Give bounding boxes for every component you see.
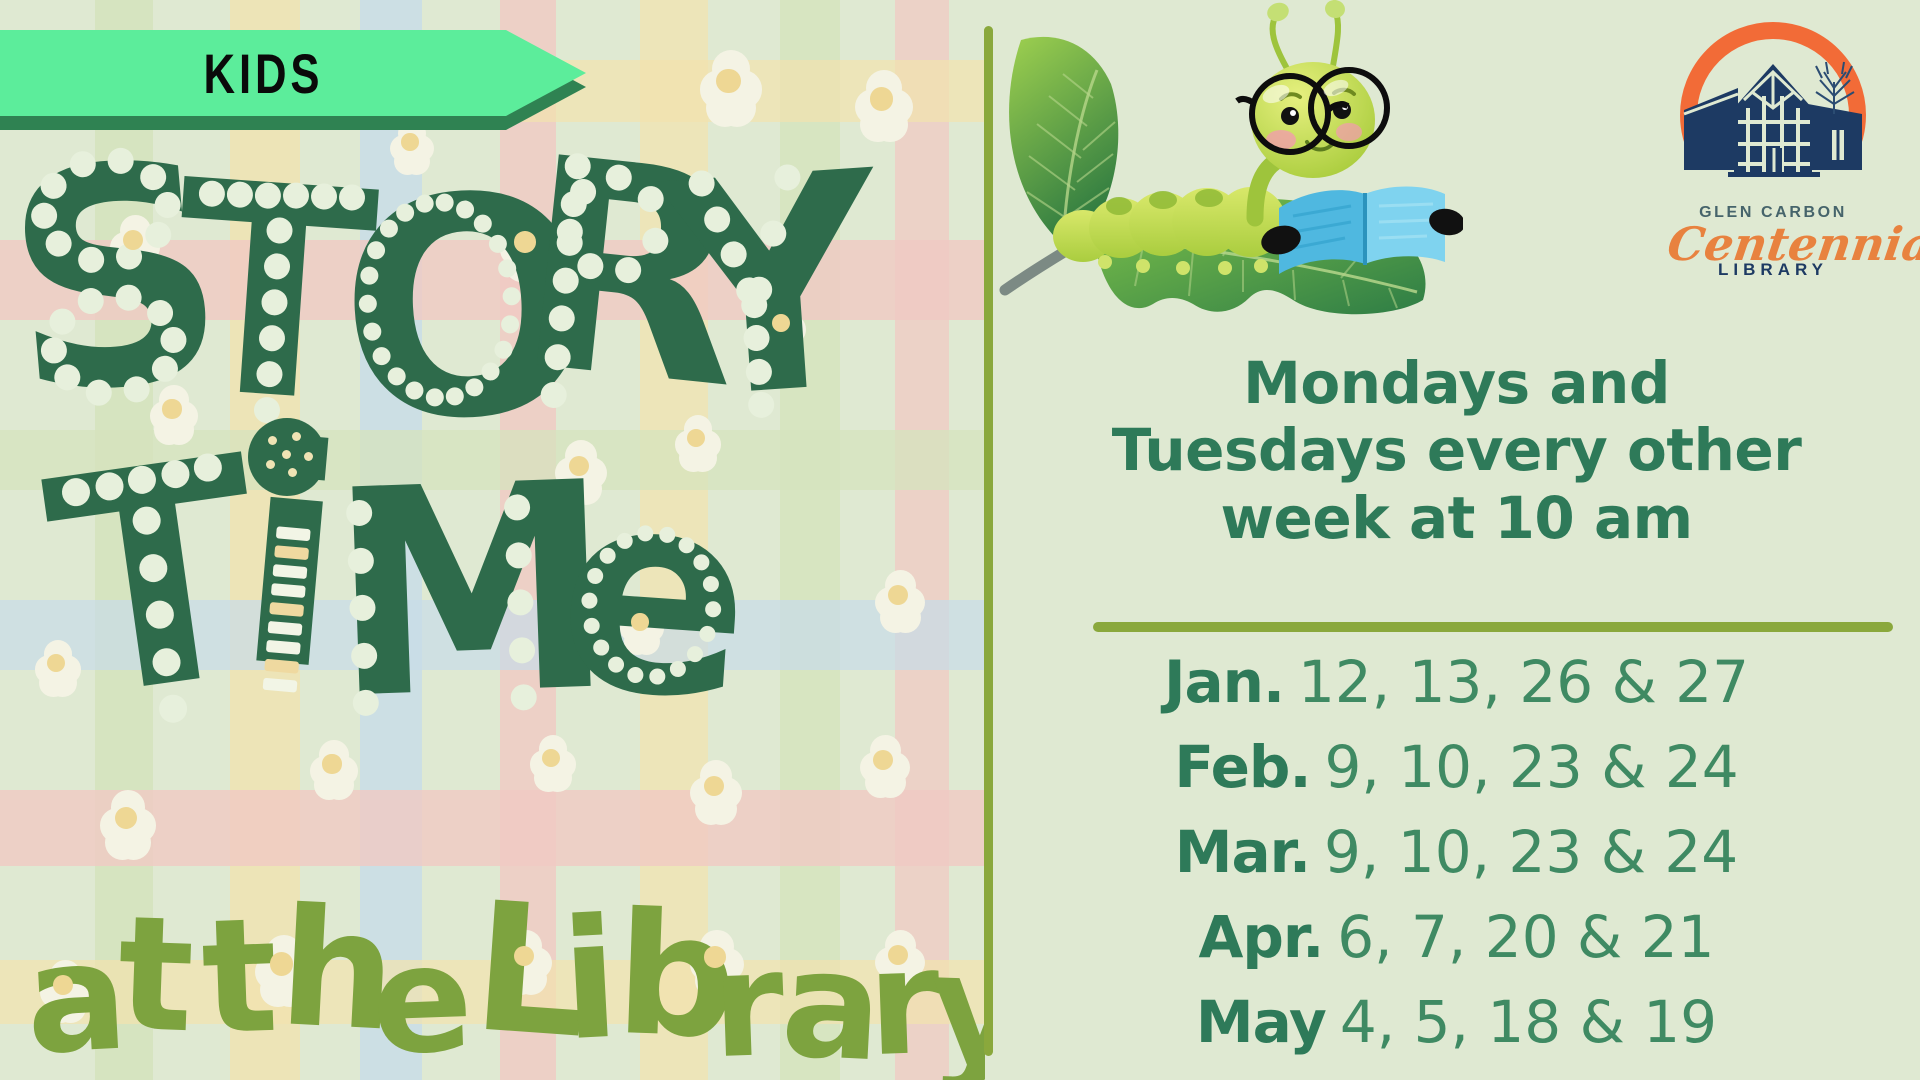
- schedule-days-label: 6, 7, 20 & 21: [1337, 895, 1714, 980]
- title-word-time: TiMe: [0, 400, 985, 740]
- schedule-date-row: Jan.12, 13, 26 & 27: [993, 640, 1920, 725]
- kids-badge: KIDS: [0, 30, 586, 116]
- schedule-headline-line-2: Tuesdays every other: [1015, 417, 1898, 484]
- schedule-month-label: May: [1196, 980, 1326, 1065]
- schedule-headline: Mondays andTuesdays every otherweek at 1…: [993, 350, 1920, 552]
- subtitle-letter-t-1: t: [115, 895, 196, 1056]
- daisy-flower-icon: [860, 735, 910, 785]
- vertical-divider: [984, 26, 993, 1056]
- schedule-month-label: Mar.: [1175, 810, 1310, 895]
- title-letter-e-3: e: [550, 449, 759, 742]
- subtitle-letter-y-11: y: [927, 932, 985, 1080]
- library-logo: GLEN CARBON Centennial LIBRARY: [1668, 22, 1878, 272]
- schedule-days-label: 12, 13, 26 & 27: [1298, 640, 1749, 725]
- kids-badge-label: KIDS: [47, 30, 480, 116]
- schedule-date-row: May4, 5, 18 & 19: [993, 980, 1920, 1065]
- schedule-days-label: 9, 10, 23 & 24: [1324, 810, 1738, 895]
- subtitle-letter-e-4: e: [369, 924, 474, 1075]
- horizontal-rule: [1093, 622, 1893, 632]
- daisy-flower-icon: [690, 760, 742, 812]
- schedule-days-label: 9, 10, 23 & 24: [1325, 725, 1739, 810]
- library-building-icon: [1682, 52, 1864, 184]
- schedule-date-list: Jan.12, 13, 26 & 27Feb.9, 10, 23 & 24Mar…: [993, 640, 1920, 1065]
- daisy-flower-icon: [700, 50, 762, 112]
- schedule-date-row: Apr.6, 7, 20 & 21: [993, 895, 1920, 980]
- caterpillar-reading-illustration: [993, 0, 1463, 360]
- schedule-headline-line-1: Mondays and: [1015, 350, 1898, 417]
- schedule-month-label: Apr.: [1198, 895, 1323, 980]
- storytime-poster: KIDS STORY TiMe attheLibrary: [0, 0, 1920, 1080]
- schedule-month-label: Jan.: [1164, 640, 1284, 725]
- title-subtitle-at-the-library: attheLibrary: [22, 880, 962, 1050]
- schedule-headline-line-3: week at 10 am: [1015, 485, 1898, 552]
- schedule-date-row: Mar.9, 10, 23 & 24: [993, 810, 1920, 895]
- title-letter-y-4: Y: [655, 133, 889, 442]
- subtitle-letter-t-2: t: [199, 897, 280, 1058]
- schedule-date-row: Feb.9, 10, 23 & 24: [993, 725, 1920, 810]
- right-info-panel: GLEN CARBON Centennial LIBRARY Mondays a…: [993, 0, 1920, 1080]
- daisy-flower-icon: [100, 790, 156, 846]
- logo-org-bottom: LIBRARY: [1668, 260, 1878, 280]
- schedule-days-label: 4, 5, 18 & 19: [1340, 980, 1717, 1065]
- schedule-month-label: Feb.: [1174, 725, 1310, 810]
- left-decorative-panel: KIDS STORY TiMe attheLibrary: [0, 0, 985, 1080]
